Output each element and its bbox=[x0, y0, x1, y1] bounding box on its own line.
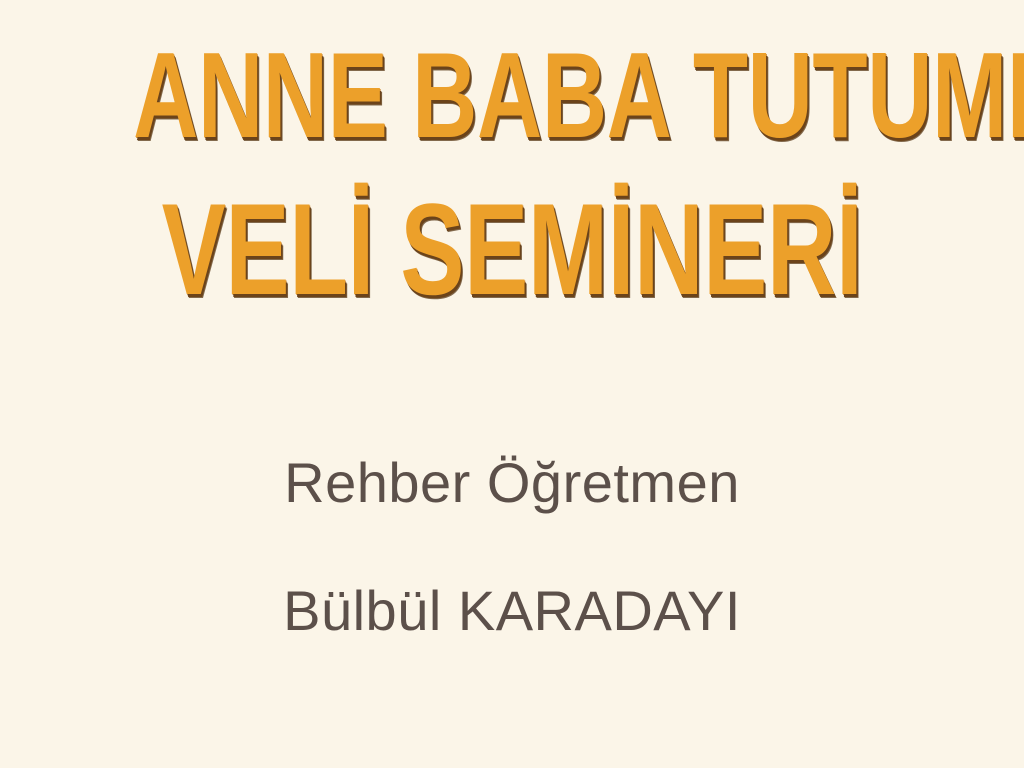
presenter-name: Bülbül KARADAYI bbox=[0, 583, 1024, 639]
presenter-role: Rehber Öğretmen bbox=[0, 455, 1024, 511]
title-line-1: ANNE BABA TUTUMLARI bbox=[133, 34, 891, 156]
subtitle-block: Rehber Öğretmen Bülbül KARADAYI bbox=[0, 455, 1024, 639]
title-line-2: VELİ SEMİNERİ bbox=[133, 184, 891, 314]
presentation-title-slide: ANNE BABA TUTUMLARI VELİ SEMİNERİ Rehber… bbox=[0, 0, 1024, 768]
title-block: ANNE BABA TUTUMLARI VELİ SEMİNERİ bbox=[0, 0, 1024, 340]
